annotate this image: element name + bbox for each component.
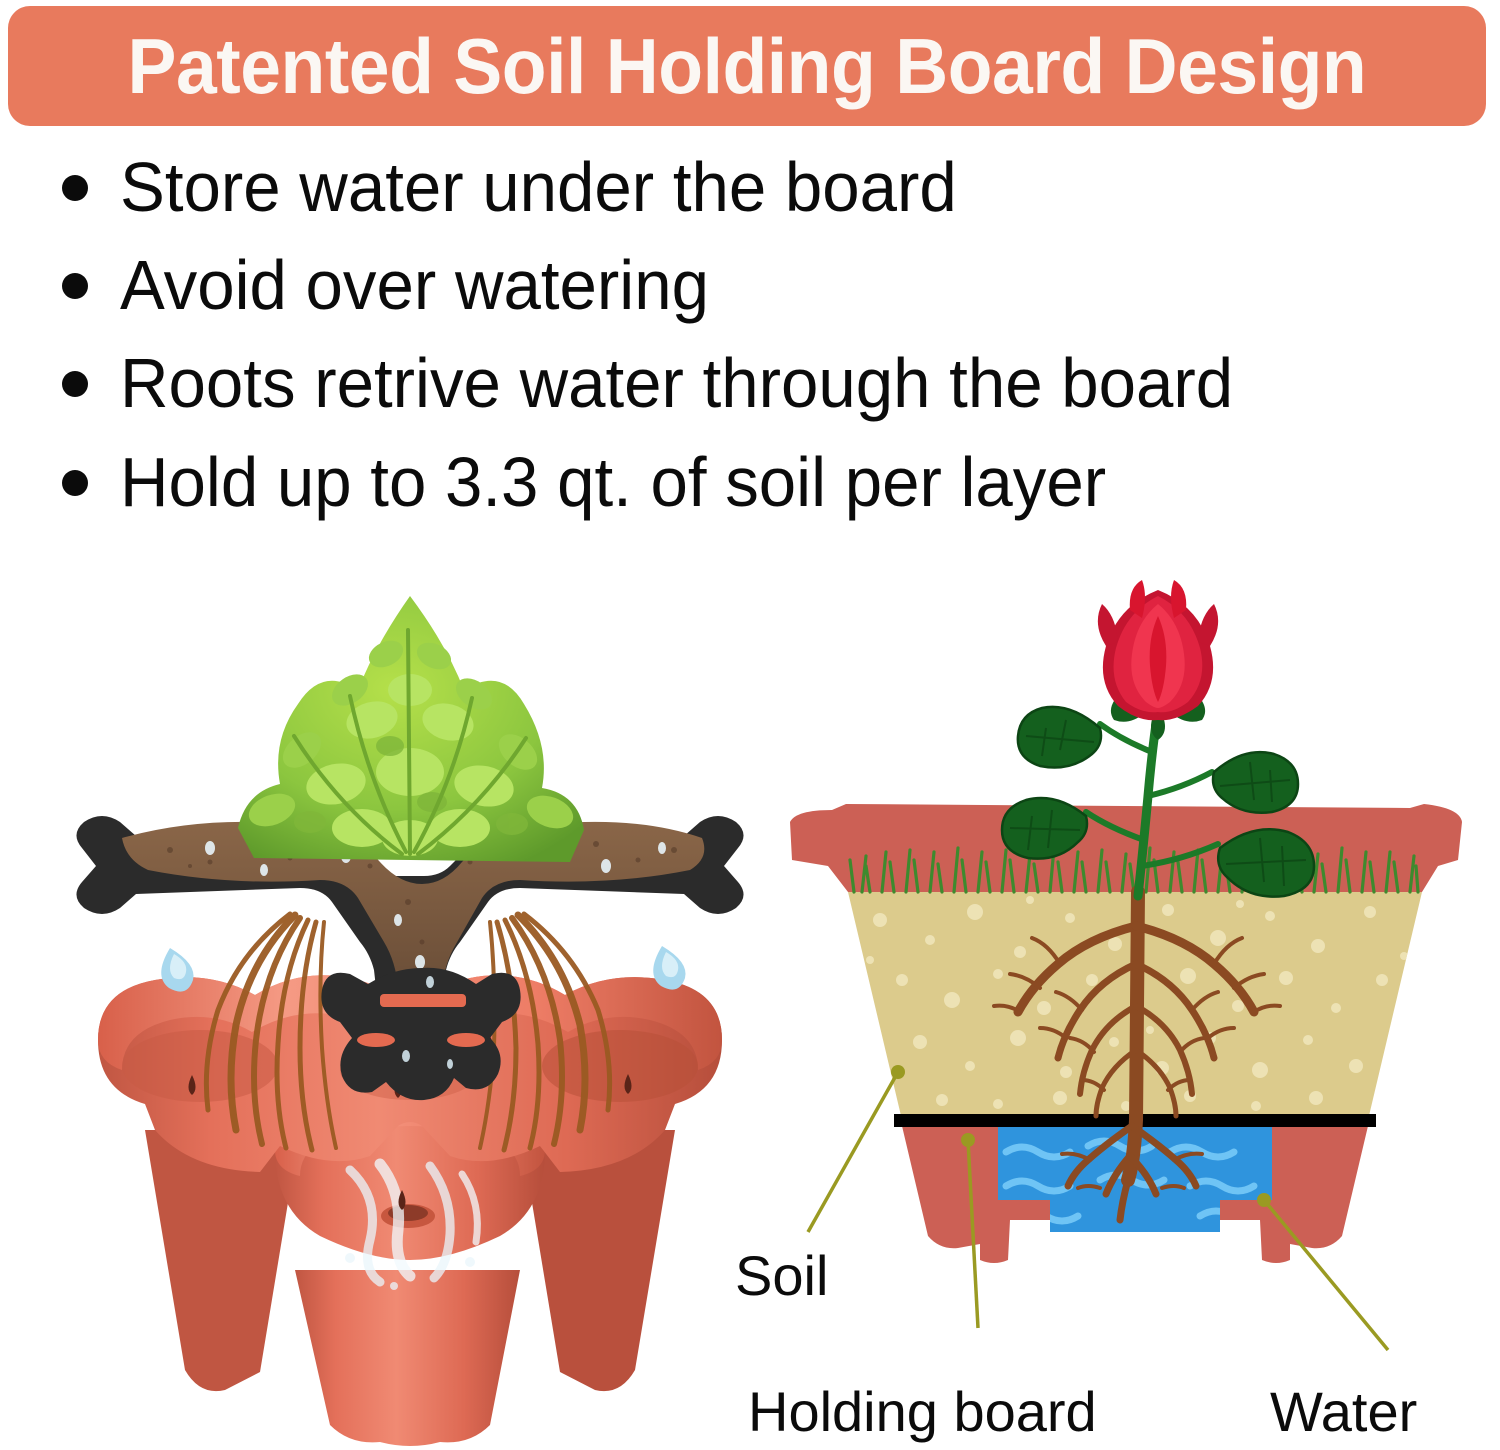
soil-holding-board-lower <box>321 968 520 1100</box>
header-banner: Patented Soil Holding Board Design <box>8 6 1486 126</box>
water-droplet-icon <box>653 946 685 990</box>
rose-bloom <box>1098 580 1218 720</box>
callout-label-holding-board: Holding board <box>748 1384 1097 1440</box>
bullet-text: Hold up to 3.3 qt. of soil per layer <box>120 445 1106 519</box>
product-photo-stackable-planter <box>50 570 770 1450</box>
list-item: Hold up to 3.3 qt. of soil per layer <box>0 445 1500 519</box>
bullet-dot-icon <box>62 371 88 397</box>
water-droplet-icon <box>161 948 193 992</box>
list-item: Store water under the board <box>0 150 1500 224</box>
bullet-text: Roots retrive water through the board <box>120 346 1233 420</box>
callout-label-water: Water <box>1270 1384 1417 1440</box>
green-plant-foliage <box>238 596 584 862</box>
bullet-dot-icon <box>62 470 88 496</box>
bullet-dot-icon <box>62 175 88 201</box>
planter-illustration <box>50 570 770 1450</box>
list-item: Avoid over watering <box>0 248 1500 322</box>
cross-section-diagram <box>770 560 1500 1447</box>
bullet-text: Store water under the board <box>120 150 957 224</box>
media-area <box>0 560 1500 1447</box>
bullet-text: Avoid over watering <box>120 248 709 322</box>
callout-label-soil: Soil <box>735 1248 828 1304</box>
bullet-dot-icon <box>62 273 88 299</box>
feature-bullet-list: Store water under the board Avoid over w… <box>0 150 1500 543</box>
list-item: Roots retrive water through the board <box>0 346 1500 420</box>
pot-cross-section-illustration <box>770 560 1500 1447</box>
page-title: Patented Soil Holding Board Design <box>128 27 1367 105</box>
